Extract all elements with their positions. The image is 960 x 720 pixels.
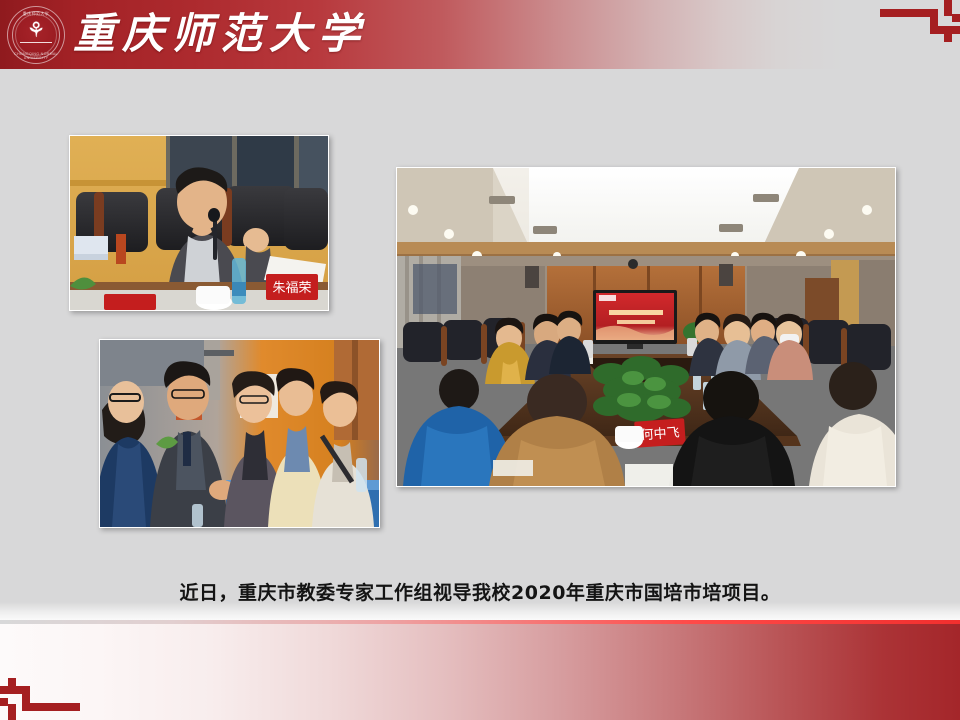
- emblem-center-glyph-icon: ⚘: [8, 20, 64, 41]
- footer-banner: [0, 624, 960, 720]
- svg-text:何中飞: 何中飞: [640, 425, 680, 444]
- footer-fade: [0, 602, 960, 620]
- photo-group-inspection: [99, 339, 380, 528]
- emblem-bottom-text: CHONGQING NORMAL UNIVERSITY: [8, 52, 64, 60]
- svg-text:朱福荣: 朱福荣: [272, 281, 311, 296]
- photo-group-inspection-image: [100, 340, 379, 527]
- photo-speaker: 朱福荣: [69, 135, 329, 311]
- page-title: 重庆师范大学: [73, 7, 367, 61]
- university-emblem-icon: 重庆师范大学 ⚘ CHONGQING NORMAL UNIVERSITY: [7, 6, 65, 64]
- emblem-top-text: 重庆师范大学: [8, 11, 64, 17]
- meander-ornament-bottom-left-icon: [0, 678, 80, 720]
- slide-root: 重庆师范大学 ⚘ CHONGQING NORMAL UNIVERSITY 重庆师…: [0, 0, 960, 720]
- slide-caption: 近日，重庆市教委专家工作组视导我校2020年重庆市国培市培项目。: [0, 578, 960, 605]
- header-banner: 重庆师范大学 ⚘ CHONGQING NORMAL UNIVERSITY 重庆师…: [0, 0, 960, 69]
- meander-ornament-top-right-icon: [880, 0, 960, 42]
- photo-meeting-room: 何中飞: [396, 167, 896, 487]
- photo-meeting-room-image: 何中飞: [397, 168, 895, 486]
- photo-speaker-image: 朱福荣: [70, 136, 328, 310]
